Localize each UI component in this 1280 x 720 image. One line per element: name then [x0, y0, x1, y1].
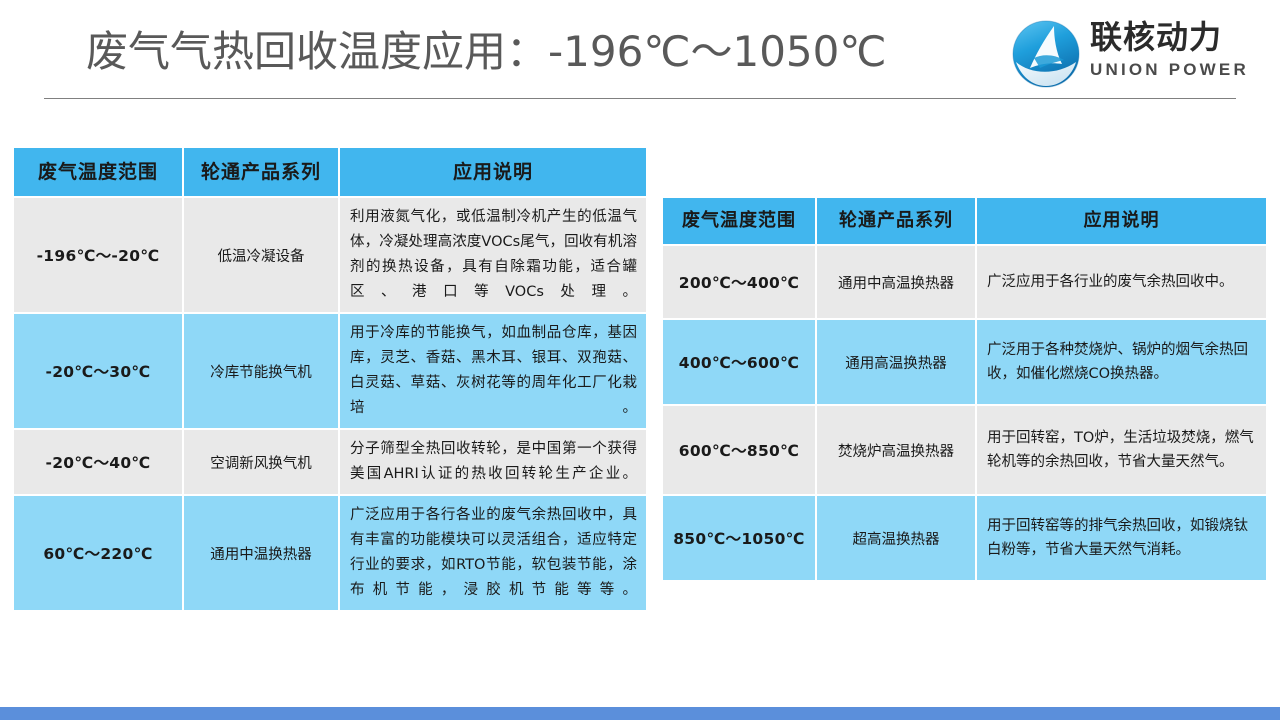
globe-swoosh-logo-icon — [1010, 18, 1082, 90]
column-header-desc: 应用说明 — [340, 148, 646, 196]
cell-description: 广泛用于各种焚烧炉、锅炉的烟气余热回收，如催化燃烧CO换热器。 — [977, 320, 1266, 404]
temperature-application-table-left: 废气温度范围 轮通产品系列 应用说明 -196℃～-20℃ 低温冷凝设备 利用液… — [12, 146, 648, 612]
cell-description: 用于回转窑等的排气余热回收，如锻烧钛白粉等，节省大量天然气消耗。 — [977, 496, 1266, 580]
cell-description: 利用液氮气化，或低温制冷机产生的低温气体，冷凝处理高浓度VOCs尾气，回收有机溶… — [340, 198, 646, 312]
column-header-series: 轮通产品系列 — [184, 148, 338, 196]
cell-range: 600℃～850℃ — [663, 406, 815, 494]
cell-series: 通用高温换热器 — [817, 320, 975, 404]
company-logo: 联核动力 UNION POWER — [1010, 16, 1268, 90]
cell-series: 焚烧炉高温换热器 — [817, 406, 975, 494]
column-header-series: 轮通产品系列 — [817, 198, 975, 244]
cell-range: 60℃～220℃ — [14, 496, 182, 610]
table-row: 60℃～220℃ 通用中温换热器 广泛应用于各行各业的废气余热回收中，具有丰富的… — [14, 496, 646, 610]
table-row: 850℃～1050℃ 超高温换热器 用于回转窑等的排气余热回收，如锻烧钛白粉等，… — [663, 496, 1266, 580]
logo-wordmark: 联核动力 UNION POWER — [1090, 18, 1270, 81]
table-row: -196℃～-20℃ 低温冷凝设备 利用液氮气化，或低温制冷机产生的低温气体，冷… — [14, 198, 646, 312]
logo-name-cn: 联核动力 — [1090, 18, 1270, 56]
column-header-range: 废气温度范围 — [663, 198, 815, 244]
cell-range: 400℃～600℃ — [663, 320, 815, 404]
page-title: 废气气热回收温度应用：-196℃～1050℃ — [86, 24, 887, 80]
cell-series: 超高温换热器 — [817, 496, 975, 580]
cell-series: 通用中温换热器 — [184, 496, 338, 610]
table-row: 600℃～850℃ 焚烧炉高温换热器 用于回转窑，TO炉，生活垃圾焚烧，燃气轮机… — [663, 406, 1266, 494]
cell-description: 广泛应用于各行各业的废气余热回收中，具有丰富的功能模块可以灵活组合，适应特定行业… — [340, 496, 646, 610]
cell-range: 850℃～1050℃ — [663, 496, 815, 580]
logo-name-en: UNION POWER — [1090, 59, 1270, 81]
cell-description: 分子筛型全热回收转轮，是中国第一个获得美国AHRI认证的热收回转轮生产企业。 — [340, 430, 646, 494]
cell-series: 冷库节能换气机 — [184, 314, 338, 428]
cell-range: -20℃～40℃ — [14, 430, 182, 494]
temperature-application-table-right: 废气温度范围 轮通产品系列 应用说明 200℃～400℃ 通用中高温换热器 广泛… — [661, 196, 1268, 582]
column-header-range: 废气温度范围 — [14, 148, 182, 196]
slide-header: 废气气热回收温度应用：-196℃～1050℃ — [0, 0, 1280, 100]
cell-range: 200℃～400℃ — [663, 246, 815, 318]
table-row: -20℃～40℃ 空调新风换气机 分子筛型全热回收转轮，是中国第一个获得美国AH… — [14, 430, 646, 494]
cell-range: -196℃～-20℃ — [14, 198, 182, 312]
cell-range: -20℃～30℃ — [14, 314, 182, 428]
cell-series: 低温冷凝设备 — [184, 198, 338, 312]
table-row: -20℃～30℃ 冷库节能换气机 用于冷库的节能换气，如血制品仓库，基因库，灵芝… — [14, 314, 646, 428]
column-header-desc: 应用说明 — [977, 198, 1266, 244]
cell-description: 用于回转窑，TO炉，生活垃圾焚烧，燃气轮机等的余热回收，节省大量天然气。 — [977, 406, 1266, 494]
cell-series: 空调新风换气机 — [184, 430, 338, 494]
cell-series: 通用中高温换热器 — [817, 246, 975, 318]
table-row: 400℃～600℃ 通用高温换热器 广泛用于各种焚烧炉、锅炉的烟气余热回收，如催… — [663, 320, 1266, 404]
bottom-accent-strip — [0, 707, 1280, 720]
cell-description: 用于冷库的节能换气，如血制品仓库，基因库，灵芝、香菇、黑木耳、银耳、双孢菇、白灵… — [340, 314, 646, 428]
cell-description: 广泛应用于各行业的废气余热回收中。 — [977, 246, 1266, 318]
table-header-row: 废气温度范围 轮通产品系列 应用说明 — [14, 148, 646, 196]
title-divider — [44, 98, 1236, 99]
table-row: 200℃～400℃ 通用中高温换热器 广泛应用于各行业的废气余热回收中。 — [663, 246, 1266, 318]
table-header-row: 废气温度范围 轮通产品系列 应用说明 — [663, 198, 1266, 244]
